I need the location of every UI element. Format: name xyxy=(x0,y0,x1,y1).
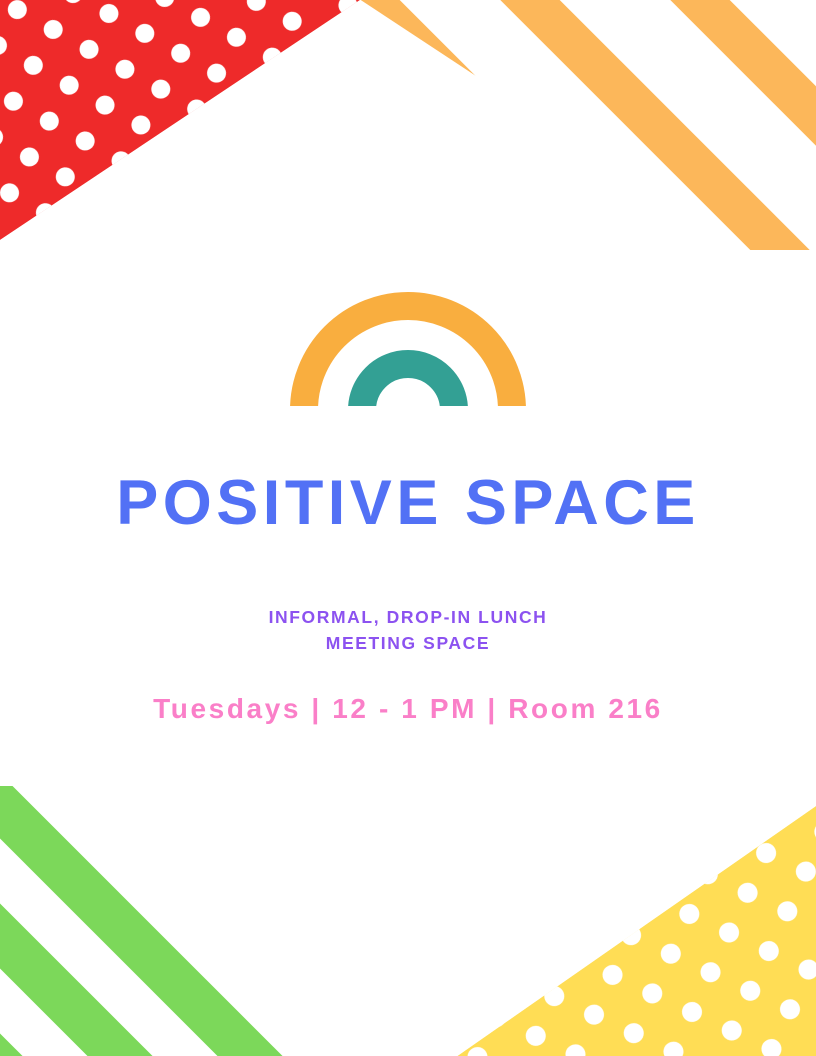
yellow-triangle-shape xyxy=(400,806,816,1056)
orange-stripe xyxy=(510,0,816,230)
top-corner-decoration xyxy=(0,0,816,250)
poster-subtitle: INFORMAL, DROP-IN LUNCH MEETING SPACE xyxy=(0,536,816,657)
poster-canvas: POSITIVE SPACE INFORMAL, DROP-IN LUNCH M… xyxy=(0,0,816,1056)
page-title: POSITIVE SPACE xyxy=(0,470,816,536)
subtitle-line-1: INFORMAL, DROP-IN LUNCH xyxy=(0,604,816,630)
red-triangle-shape xyxy=(0,0,420,240)
green-stripe xyxy=(0,936,420,1056)
red-dotted-triangle xyxy=(0,0,460,250)
green-stripe xyxy=(0,786,420,1056)
green-stripe-group xyxy=(0,786,420,1056)
rainbow-icon xyxy=(290,285,526,406)
green-stripe xyxy=(0,806,420,1056)
orange-stripe xyxy=(330,0,816,250)
rainbow-inner-arc xyxy=(362,364,454,406)
logo-container xyxy=(0,285,816,406)
orange-stripe xyxy=(600,0,816,150)
yellow-dotted-triangle xyxy=(380,786,816,1056)
green-stripe xyxy=(0,786,420,1056)
orange-stripe-group xyxy=(250,0,816,250)
orange-stripe xyxy=(250,0,700,250)
poster-text-block: POSITIVE SPACE INFORMAL, DROP-IN LUNCH M… xyxy=(0,470,816,725)
subtitle-line-2: MEETING SPACE xyxy=(0,630,816,656)
yellow-triangle-dot-pattern xyxy=(380,786,816,1056)
orange-stripe xyxy=(420,0,816,250)
bottom-corner-decoration xyxy=(0,786,816,1056)
red-triangle-dot-pattern xyxy=(0,0,460,250)
event-details: Tuesdays | 12 - 1 PM | Room 216 xyxy=(0,657,816,725)
